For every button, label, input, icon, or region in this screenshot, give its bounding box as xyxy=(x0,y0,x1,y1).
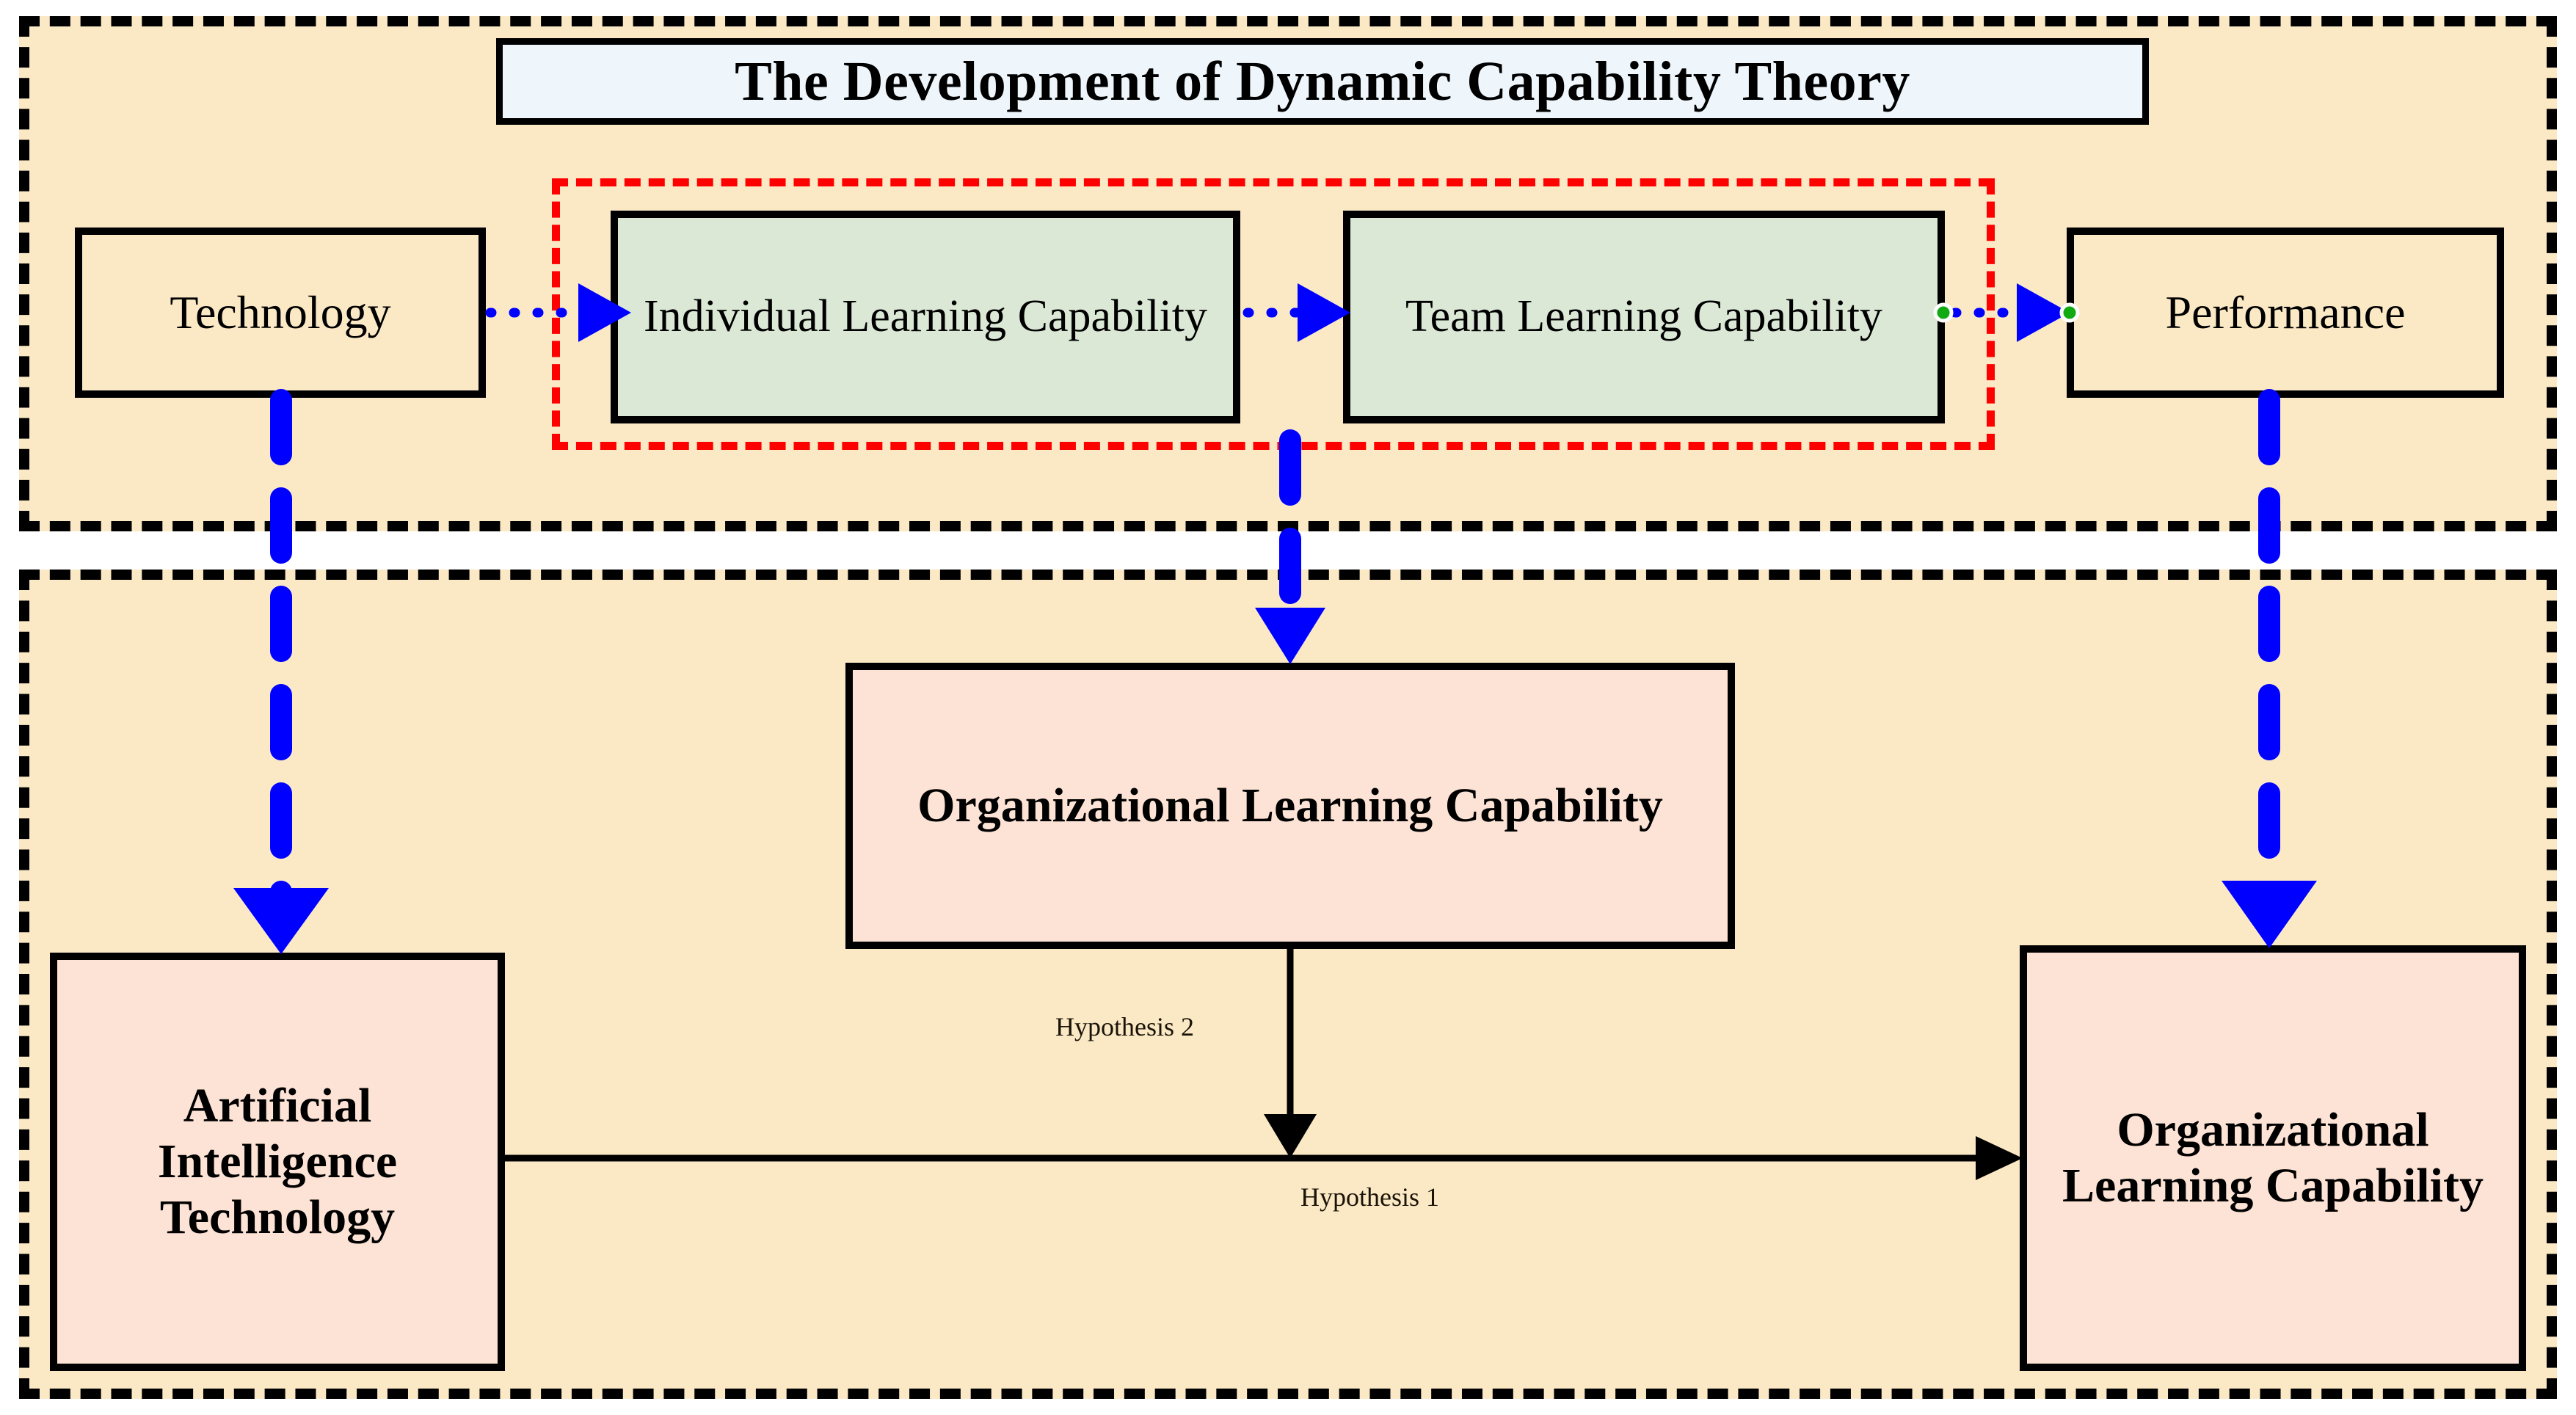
node-individual-learning-capability-label: Individual Learning Capability xyxy=(636,291,1215,343)
figure-canvas: The Development of Dynamic Capability Th… xyxy=(0,0,2576,1415)
node-organizational-learning-capability-right-label: Organizational Learning Capability xyxy=(2027,1102,2519,1214)
figure-title-text: The Development of Dynamic Capability Th… xyxy=(735,50,1910,114)
node-organizational-learning-capability-right[interactable]: Organizational Learning Capability xyxy=(2020,945,2526,1371)
figure-title-banner: The Development of Dynamic Capability Th… xyxy=(496,38,2149,125)
node-technology-label: Technology xyxy=(162,285,398,340)
node-organizational-learning-capability-center-label: Organizational Learning Capability xyxy=(910,778,1670,834)
node-performance-label: Performance xyxy=(2158,285,2413,340)
node-artificial-intelligence-technology[interactable]: Artificial Intelligence Technology xyxy=(50,953,505,1371)
hypothesis-1-label: Hypothesis 1 xyxy=(1300,1182,1439,1212)
node-individual-learning-capability[interactable]: Individual Learning Capability xyxy=(611,211,1240,423)
hypothesis-2-label: Hypothesis 2 xyxy=(1055,1011,1194,1042)
node-technology[interactable]: Technology xyxy=(75,228,486,398)
node-team-learning-capability-label: Team Learning Capability xyxy=(1398,291,1890,343)
node-performance[interactable]: Performance xyxy=(2067,228,2504,398)
node-artificial-intelligence-technology-label: Artificial Intelligence Technology xyxy=(57,1078,498,1245)
node-organizational-learning-capability-center[interactable]: Organizational Learning Capability xyxy=(845,663,1735,949)
node-team-learning-capability[interactable]: Team Learning Capability xyxy=(1343,211,1945,423)
